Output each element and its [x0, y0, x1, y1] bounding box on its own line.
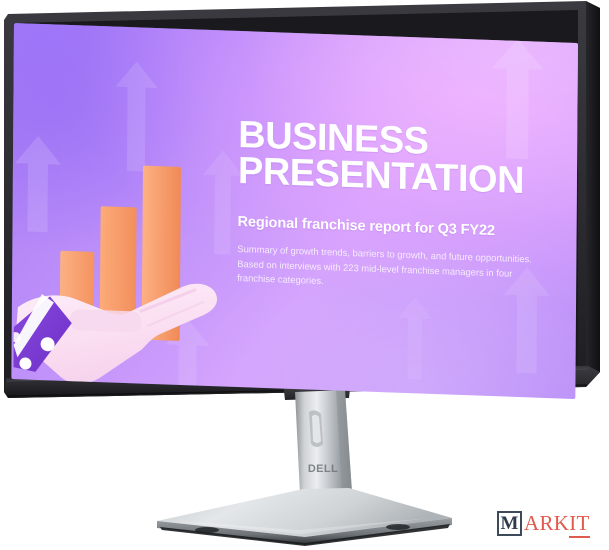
- base-foot-left: [195, 527, 219, 533]
- watermark-boxed-letter: M: [497, 511, 522, 536]
- monitor-screen: BUSINESS PRESENTATION Regional franchise…: [11, 23, 578, 399]
- watermark-word-it: IT: [569, 511, 589, 538]
- markit-watermark: M ARKIT: [497, 508, 590, 538]
- slide-title-line2: PRESENTATION: [238, 153, 568, 201]
- slide-title: BUSINESS PRESENTATION: [238, 117, 569, 202]
- slide-subtitle: Regional franchise report for Q3 FY22: [238, 214, 568, 242]
- hand-holding-chart-illustration: [13, 131, 245, 389]
- decor-arrow-icon: [397, 297, 432, 380]
- hand-thumb: [70, 309, 142, 333]
- dell-logo: DELL: [308, 463, 338, 475]
- dell-monitor: DELL: [0, 0, 609, 550]
- base-foot-right: [386, 524, 410, 530]
- screenshot-stage: DELL: [0, 0, 609, 550]
- slide-body-text: Summary of growth trends, barriers to gr…: [237, 242, 537, 296]
- slide-text-block: BUSINESS PRESENTATION Regional franchise…: [237, 117, 568, 297]
- watermark-word-ark: ARK: [524, 511, 569, 535]
- watermark-word: ARKIT: [524, 513, 590, 534]
- presentation-slide: BUSINESS PRESENTATION Regional franchise…: [11, 23, 578, 399]
- monitor-right-edge: [586, 1, 600, 387]
